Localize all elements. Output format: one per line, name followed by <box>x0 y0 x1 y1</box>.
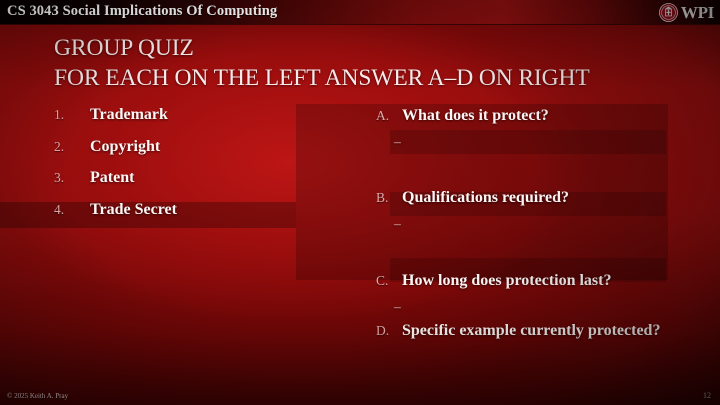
list-item-marker: 4. <box>54 202 90 218</box>
question-marker: C. <box>376 273 402 289</box>
list-item-label: Trade Secret <box>90 201 177 219</box>
slide-header-bar: CS 3043 Social Implications Of Computing… <box>0 0 720 25</box>
question-marker: A. <box>376 108 402 124</box>
sub-bullet-dash: – <box>394 217 401 231</box>
slide-title-line-1: GROUP QUIZ <box>54 33 694 63</box>
spacer <box>376 156 676 188</box>
copyright-notice: © 2025 Keith A. Pray <box>7 392 68 400</box>
question-item: C. How long does protection last? <box>376 271 676 291</box>
sub-bullet-dash: – <box>394 135 401 149</box>
list-item-label: Copyright <box>90 138 160 156</box>
sub-bullet-dash: – <box>394 300 401 314</box>
question-item: A. What does it protect? <box>376 106 676 126</box>
slide-canvas: CS 3043 Social Implications Of Computing… <box>0 0 720 405</box>
list-item-marker: 1. <box>54 107 90 123</box>
question-item: D. Specific example currently protected? <box>376 321 676 341</box>
page-number: 12 <box>703 391 711 400</box>
question-item: B. Qualifications required? <box>376 188 676 208</box>
list-item: 1. Trademark <box>54 106 294 138</box>
question-sub-bullet: – <box>376 291 676 321</box>
list-item: 2. Copyright <box>54 138 294 170</box>
list-item-marker: 3. <box>54 170 90 186</box>
question-sub-bullet: – <box>376 209 676 239</box>
slide-title: GROUP QUIZ FOR EACH ON THE LEFT ANSWER A… <box>54 33 694 94</box>
wpi-seal-icon <box>659 3 678 22</box>
course-title: CS 3043 Social Implications Of Computing <box>7 3 277 20</box>
question-text: Specific example currently protected? <box>402 321 660 341</box>
question-sub-bullet: – <box>376 126 676 156</box>
list-item: 4. Trade Secret <box>54 201 294 233</box>
question-text: What does it protect? <box>402 106 549 126</box>
question-text: How long does protection last? <box>402 271 611 291</box>
question-marker: D. <box>376 323 402 339</box>
list-item-label: Trademark <box>90 106 168 124</box>
right-questions-list: A. What does it protect? – B. Qualificat… <box>376 106 676 342</box>
left-items-list: 1. Trademark 2. Copyright 3. Patent 4. T… <box>54 106 294 232</box>
list-item-label: Patent <box>90 169 134 187</box>
question-text: Qualifications required? <box>402 188 569 208</box>
question-marker: B. <box>376 190 402 206</box>
list-item: 3. Patent <box>54 169 294 201</box>
list-item-marker: 2. <box>54 139 90 155</box>
wpi-wordmark: WPI <box>681 4 714 21</box>
slide-title-line-2: FOR EACH ON THE LEFT ANSWER A–D ON RIGHT <box>54 63 694 93</box>
wpi-logo: WPI <box>659 1 714 24</box>
spacer <box>376 239 676 271</box>
